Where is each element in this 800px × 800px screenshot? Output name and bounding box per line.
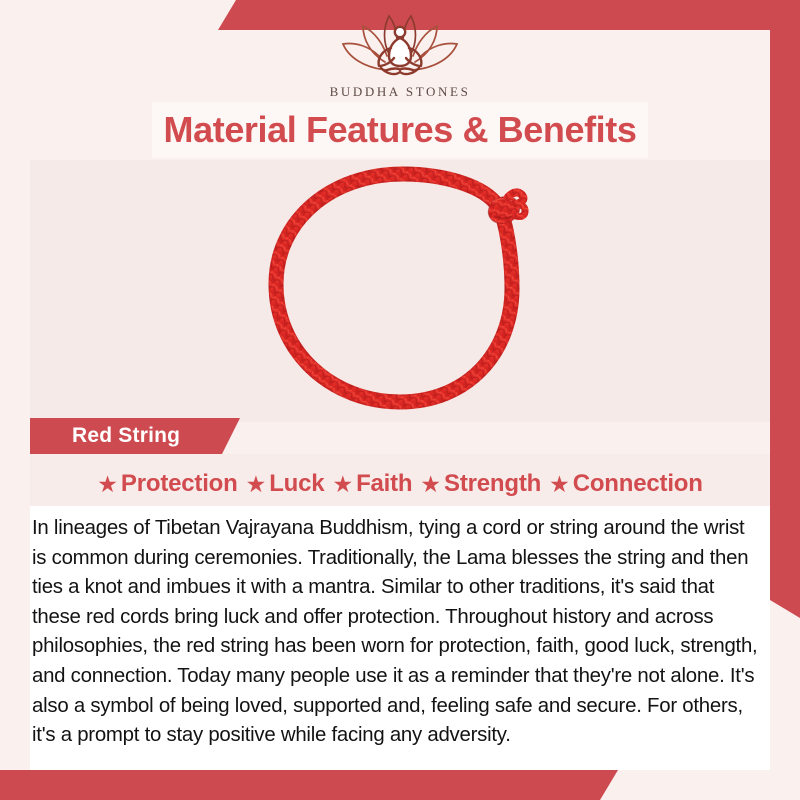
benefit-item: ★ Connection bbox=[549, 470, 703, 498]
page-title: Material Features & Benefits bbox=[164, 109, 637, 151]
star-icon: ★ bbox=[332, 473, 353, 496]
benefit-item: ★ Strength bbox=[420, 470, 541, 498]
product-label: Red String bbox=[72, 424, 180, 448]
product-label-ribbon: Red String bbox=[30, 418, 240, 454]
product-image bbox=[30, 160, 770, 422]
benefit-label: Protection bbox=[121, 470, 238, 498]
benefit-item: ★ Protection bbox=[97, 470, 237, 498]
frame-band-bottom bbox=[0, 770, 618, 800]
benefit-label: Strength bbox=[444, 470, 541, 498]
benefit-label: Connection bbox=[573, 470, 703, 498]
description-text: In lineages of Tibetan Vajrayana Buddhis… bbox=[32, 514, 762, 751]
lotus-meditation-icon bbox=[325, 10, 475, 82]
benefit-item: ★ Luck bbox=[246, 470, 325, 498]
description-block: In lineages of Tibetan Vajrayana Buddhis… bbox=[30, 506, 770, 770]
brand-logo: BUDDHA STONES bbox=[0, 10, 800, 100]
benefits-row: ★ Protection ★ Luck ★ Faith ★ Strength ★… bbox=[30, 462, 770, 506]
poster-canvas: BUDDHA STONES Material Features & Benefi… bbox=[0, 0, 800, 800]
title-banner: Material Features & Benefits bbox=[152, 102, 648, 158]
ribbon-underline bbox=[30, 454, 770, 462]
star-icon: ★ bbox=[97, 473, 118, 496]
star-icon: ★ bbox=[549, 473, 570, 496]
star-icon: ★ bbox=[420, 473, 441, 496]
benefit-label: Faith bbox=[356, 470, 412, 498]
brand-wordmark: BUDDHA STONES bbox=[0, 84, 800, 100]
red-braided-cord-bracelet-icon bbox=[240, 166, 560, 416]
star-icon: ★ bbox=[246, 473, 267, 496]
benefit-item: ★ Faith bbox=[332, 470, 412, 498]
benefit-label: Luck bbox=[269, 470, 324, 498]
